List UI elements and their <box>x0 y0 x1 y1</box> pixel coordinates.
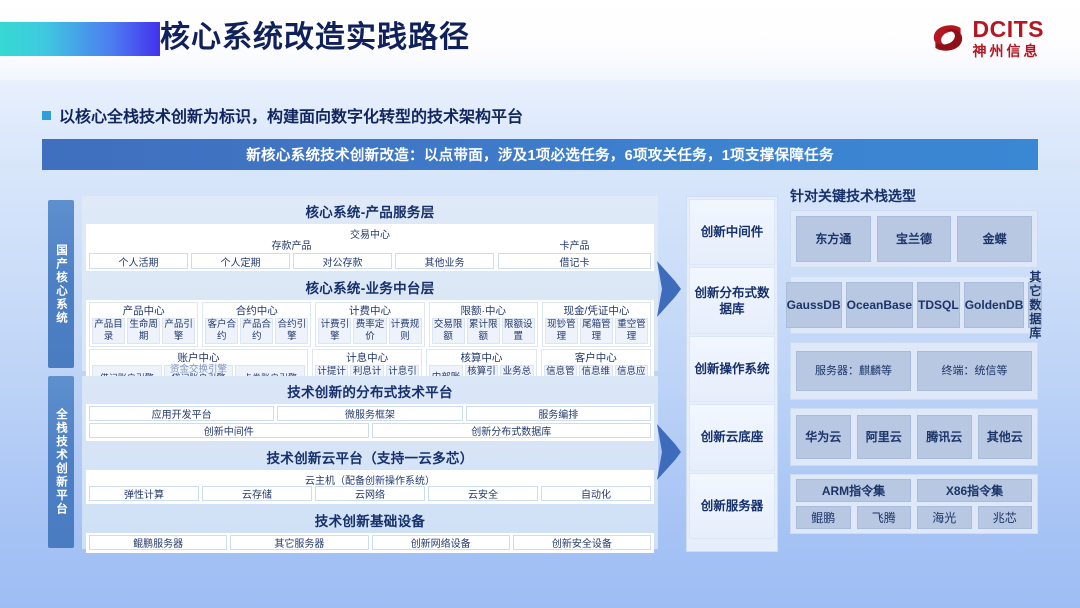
center-cell[interactable]: 累计限额 <box>467 318 500 344</box>
vendor-box[interactable]: 其它数据库 <box>1028 282 1042 328</box>
center-title: 计息中心 <box>315 351 419 365</box>
center-cell[interactable]: 产品引擎 <box>162 318 195 344</box>
infra-items-row: 鲲鹏服务器 其它服务器 创新网络设备 创新安全设备 <box>89 535 651 550</box>
task-item-operating-system[interactable]: 创新操作系统 <box>689 336 775 402</box>
center-cells: 客户合约 产品合约 合约引擎 <box>205 318 308 344</box>
cloud-platform-title: 技术创新云平台（支持一云多芯） <box>84 444 656 470</box>
summary-banner: 新核心系统技术创新改造：以点带面，涉及1项必选任务，6项攻关任务，1项支撑保障任… <box>42 139 1038 170</box>
infra-chip[interactable]: 创新安全设备 <box>513 535 651 550</box>
center-cell[interactable]: 尾箱管理 <box>580 318 613 344</box>
platform-chip[interactable]: 创新中间件 <box>89 423 369 438</box>
core-system-block: 核心系统-产品服务层 交易中心 存款产品 个人活期 个人定期 对公存款 其他业务 <box>82 196 658 371</box>
platform-chip[interactable]: 微服务框架 <box>277 406 462 421</box>
stack-row-os: 服务器：麒麟等 终端：统信等 <box>790 342 1038 400</box>
infra-chip[interactable]: 创新网络设备 <box>372 535 510 550</box>
center-title: 产品中心 <box>92 304 195 318</box>
logo-en-text: DCITS <box>973 18 1045 41</box>
vendor-box[interactable]: TDSQL <box>917 282 960 328</box>
task-item-distributed-database[interactable]: 创新分布式数据库 <box>689 267 775 333</box>
center-cell[interactable]: 生命周期 <box>127 318 160 344</box>
infra-chip[interactable]: 鲲鹏服务器 <box>89 535 227 550</box>
instruction-set-groups: ARM指令集 鲲鹏 飞腾 X86指令集 海光 兆芯 <box>796 479 1032 529</box>
stack-selection-title: 针对关键技术栈选型 <box>790 186 916 206</box>
center-cell[interactable]: 费率定价 <box>353 318 386 344</box>
bullet-square-icon <box>42 111 51 120</box>
vendor-box[interactable]: GoldenDB <box>964 282 1025 328</box>
center-cells: 产品目录 生命周期 产品引擎 <box>92 318 195 344</box>
vendor-box[interactable]: 服务器：麒麟等 <box>796 351 911 391</box>
architecture-panel: 国产核心系统 全栈技术创新平台 核心系统-产品服务层 交易中心 存款产品 个人活… <box>48 196 658 552</box>
center-card-limit[interactable]: 限额·中心 交易限额 累计限额 限额设置 <box>429 302 538 347</box>
deposit-group-items: 个人活期 个人定期 对公存款 其他业务 <box>89 253 494 269</box>
center-cell[interactable]: 限额设置 <box>502 318 535 344</box>
product-layer-title: 核心系统-产品服务层 <box>84 198 656 224</box>
vendor-box[interactable]: 其他云 <box>978 415 1033 459</box>
vendor-box[interactable]: 华为云 <box>796 415 851 459</box>
center-card-contract[interactable]: 合约中心 客户合约 产品合约 合约引擎 <box>202 302 311 347</box>
vendor-box[interactable]: 阿里云 <box>857 415 912 459</box>
cpu-chip[interactable]: 鲲鹏 <box>796 506 851 529</box>
platform-chip[interactable]: 服务编排 <box>466 406 651 421</box>
side-label-domestic-core: 国产核心系统 <box>48 200 74 368</box>
section-bullet-text: 以核心全栈技术创新为标识，构建面向数字化转型的技术架构平台 <box>59 103 523 127</box>
flow-arrow-upper <box>655 255 683 323</box>
card-group-items: 借记卡 <box>498 253 651 269</box>
instruction-set-head[interactable]: X86指令集 <box>917 479 1032 502</box>
center-title: 账户中心 <box>92 351 305 365</box>
center-cell[interactable]: 重空管理 <box>615 318 648 344</box>
cpu-chip[interactable]: 海光 <box>917 506 972 529</box>
vendor-box[interactable]: GaussDB <box>786 282 842 328</box>
flow-arrow-lower <box>655 418 683 486</box>
task-item-middleware[interactable]: 创新中间件 <box>689 199 775 265</box>
platform-chip[interactable]: 应用开发平台 <box>89 406 274 421</box>
stack-row-server: ARM指令集 鲲鹏 飞腾 X86指令集 海光 兆芯 <box>790 474 1038 534</box>
stack-selection-panel: 东方通 宝兰德 金蝶 GaussDB OceanBase TDSQL Golde… <box>790 210 1038 552</box>
center-cell[interactable]: 合约引擎 <box>275 318 308 344</box>
center-cell[interactable]: 产品合约 <box>240 318 273 344</box>
center-title: 现金/凭证中心 <box>545 304 648 318</box>
product-groups: 存款产品 个人活期 个人定期 对公存款 其他业务 卡产品 借记卡 <box>89 240 651 269</box>
product-chip[interactable]: 其他业务 <box>395 253 494 269</box>
center-cells: 计费引擎 费率定价 计费规则 <box>318 318 421 344</box>
stack-row-cloud: 华为云 阿里云 腾讯云 其他云 <box>790 408 1038 466</box>
title-gradient-bar <box>0 22 160 56</box>
cloud-items-row: 弹性计算 云存储 云网络 云安全 自动化 <box>89 486 651 501</box>
side-label-fullstack-platform: 全栈技术创新平台 <box>48 376 74 548</box>
fullstack-platform-block: 技术创新的分布式技术平台 应用开发平台 微服务框架 服务编排 创新中间件 创新分… <box>82 376 658 549</box>
vendor-box[interactable]: 东方通 <box>796 216 871 262</box>
task-item-cloud-base[interactable]: 创新云底座 <box>689 404 775 470</box>
center-card-cash-voucher[interactable]: 现金/凭证中心 现钞管理 尾箱管理 重空管理 <box>542 302 651 347</box>
center-cell[interactable]: 计费规则 <box>389 318 422 344</box>
vendor-box[interactable]: 终端：统信等 <box>917 351 1032 391</box>
brand-logo: DCITS 神州信息 <box>930 18 1045 58</box>
task-item-server[interactable]: 创新服务器 <box>689 473 775 539</box>
product-chip[interactable]: 个人定期 <box>191 253 290 269</box>
brand-wordmark: DCITS 神州信息 <box>973 18 1045 58</box>
cpu-chip[interactable]: 兆芯 <box>978 506 1033 529</box>
platform-chip[interactable]: 创新分布式数据库 <box>372 423 652 438</box>
center-cell[interactable]: 交易限额 <box>432 318 465 344</box>
cloud-host-band: 云主机（配备创新操作系统） <box>89 472 651 486</box>
card-group-label: 卡产品 <box>498 240 651 253</box>
product-layer-body: 交易中心 存款产品 个人活期 个人定期 对公存款 其他业务 卡产品 <box>86 224 654 271</box>
dcits-swirl-icon <box>930 20 966 56</box>
center-card-billing[interactable]: 计费中心 计费引擎 费率定价 计费规则 <box>315 302 424 347</box>
innovation-task-column: 创新中间件 创新分布式数据库 创新操作系统 创新云底座 创新服务器 <box>686 196 778 552</box>
instruction-set-x86: X86指令集 海光 兆芯 <box>917 479 1032 529</box>
stack-row-database: GaussDB OceanBase TDSQL GoldenDB 其它数据库 <box>790 276 1038 334</box>
product-chip[interactable]: 对公存款 <box>293 253 392 269</box>
center-cell[interactable]: 客户合约 <box>205 318 238 344</box>
instruction-set-chips: 海光 兆芯 <box>917 506 1032 529</box>
cloud-platform-body: 云主机（配备创新操作系统） 弹性计算 云存储 云网络 云安全 自动化 <box>86 470 654 504</box>
card-product-group: 卡产品 借记卡 <box>498 240 651 269</box>
instruction-set-chips: 鲲鹏 飞腾 <box>796 506 911 529</box>
cloud-chip[interactable]: 云存储 <box>202 486 312 501</box>
center-title: 客户中心 <box>544 351 648 365</box>
deposit-group-label: 存款产品 <box>89 240 494 253</box>
center-cells: 现钞管理 尾箱管理 重空管理 <box>545 318 648 344</box>
slide-header: 核心系统改造实践路径 DCITS 神州信息 <box>0 0 1080 80</box>
cloud-chip[interactable]: 自动化 <box>541 486 651 501</box>
tech-platform-row-1: 应用开发平台 微服务框架 服务编排 <box>89 406 651 421</box>
center-title: 限额·中心 <box>432 304 535 318</box>
cloud-chip[interactable]: 弹性计算 <box>89 486 199 501</box>
trade-center-band: 交易中心 <box>89 226 651 240</box>
product-chip[interactable]: 借记卡 <box>498 253 651 269</box>
tech-platform-body: 应用开发平台 微服务框架 服务编排 创新中间件 创新分布式数据库 <box>86 404 654 441</box>
infra-title: 技术创新基础设备 <box>84 507 656 533</box>
vendor-box[interactable]: 金蝶 <box>957 216 1032 262</box>
center-title: 计费中心 <box>318 304 421 318</box>
center-cells: 交易限额 累计限额 限额设置 <box>432 318 535 344</box>
business-layer-title: 核心系统-业务中台层 <box>84 274 656 300</box>
product-chip[interactable]: 个人活期 <box>89 253 188 269</box>
vendor-box[interactable]: 腾讯云 <box>917 415 972 459</box>
center-cell[interactable]: 计费引擎 <box>318 318 351 344</box>
infra-body: 鲲鹏服务器 其它服务器 创新网络设备 创新安全设备 <box>86 533 654 553</box>
center-card-product[interactable]: 产品中心 产品目录 生命周期 产品引擎 <box>89 302 198 347</box>
tech-platform-title: 技术创新的分布式技术平台 <box>84 378 656 404</box>
cpu-chip[interactable]: 飞腾 <box>857 506 912 529</box>
instruction-set-head[interactable]: ARM指令集 <box>796 479 911 502</box>
vendor-box[interactable]: OceanBase <box>846 282 913 328</box>
stack-row-middleware: 东方通 宝兰德 金蝶 <box>790 210 1038 268</box>
slide-root: 核心系统改造实践路径 DCITS 神州信息 以核心全栈技术创新为标识，构建面向数… <box>0 0 1080 608</box>
deposit-product-group: 存款产品 个人活期 个人定期 对公存款 其他业务 <box>89 240 494 269</box>
business-row-1: 产品中心 产品目录 生命周期 产品引擎 合约中心 客户合约 产品合约 合约引擎 <box>89 302 651 347</box>
cloud-chip[interactable]: 云安全 <box>428 486 538 501</box>
section-bullet: 以核心全栈技术创新为标识，构建面向数字化转型的技术架构平台 <box>42 103 523 127</box>
tech-platform-row-2: 创新中间件 创新分布式数据库 <box>89 423 651 438</box>
center-title: 合约中心 <box>205 304 308 318</box>
cloud-chip[interactable]: 云网络 <box>315 486 425 501</box>
center-cell[interactable]: 产品目录 <box>92 318 125 344</box>
instruction-set-arm: ARM指令集 鲲鹏 飞腾 <box>796 479 911 529</box>
logo-cn-text: 神州信息 <box>973 44 1045 58</box>
page-title: 核心系统改造实践路径 <box>160 18 470 58</box>
overlapping-label-fund-exchange-engine: 资金交换引擎 <box>92 364 305 375</box>
center-title: 核算中心 <box>429 351 533 365</box>
vendor-box[interactable]: 宝兰德 <box>877 216 952 262</box>
infra-chip[interactable]: 其它服务器 <box>230 535 368 550</box>
center-cell[interactable]: 现钞管理 <box>545 318 578 344</box>
